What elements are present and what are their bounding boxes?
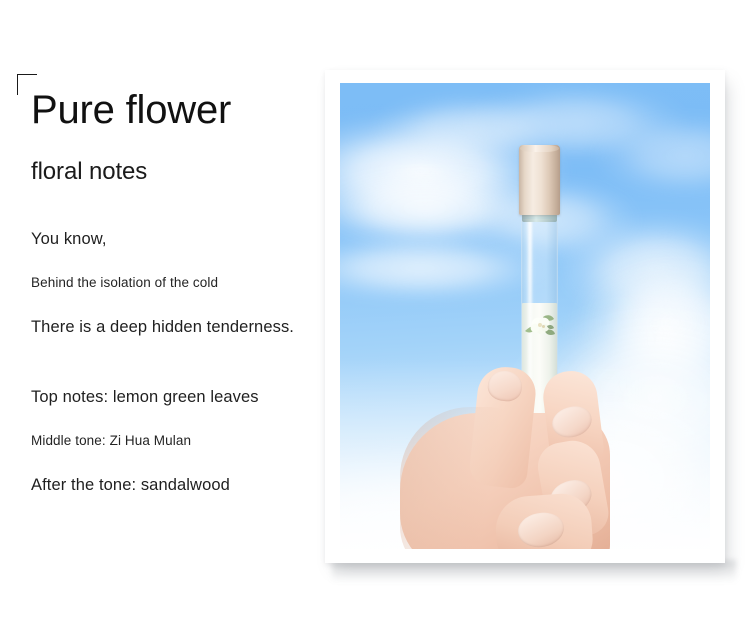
poem-block: You know, Behind the isolation of the co… [31, 228, 294, 339]
poem-line-2: Behind the isolation of the cold [31, 273, 294, 292]
top-notes-line: Top notes: lemon green leaves [31, 386, 259, 409]
bottle-cap-top [520, 145, 559, 152]
fragrance-notes-block: Top notes: lemon green leaves Middle ton… [31, 386, 259, 497]
bottle-cap [519, 145, 560, 215]
hand-shadow [400, 407, 520, 549]
page-title: Pure flower [31, 85, 231, 135]
poem-line-3: There is a deep hidden tenderness. [31, 316, 294, 339]
flower-icon [523, 309, 556, 343]
poem-line-1: You know, [31, 228, 294, 251]
page-subtitle: floral notes [31, 156, 147, 188]
product-banner: Pure flower floral notes You know, Behin… [0, 0, 750, 644]
product-photo-card [325, 70, 725, 563]
product-photo [340, 83, 710, 549]
hand [400, 367, 660, 549]
bottle-neck [522, 214, 557, 222]
photo-card-shadow [332, 560, 736, 582]
text-column: Pure flower floral notes You know, Behin… [0, 0, 330, 644]
after-tone-line: After the tone: sandalwood [31, 474, 259, 497]
middle-tone-line: Middle tone: Zi Hua Mulan [31, 431, 259, 450]
